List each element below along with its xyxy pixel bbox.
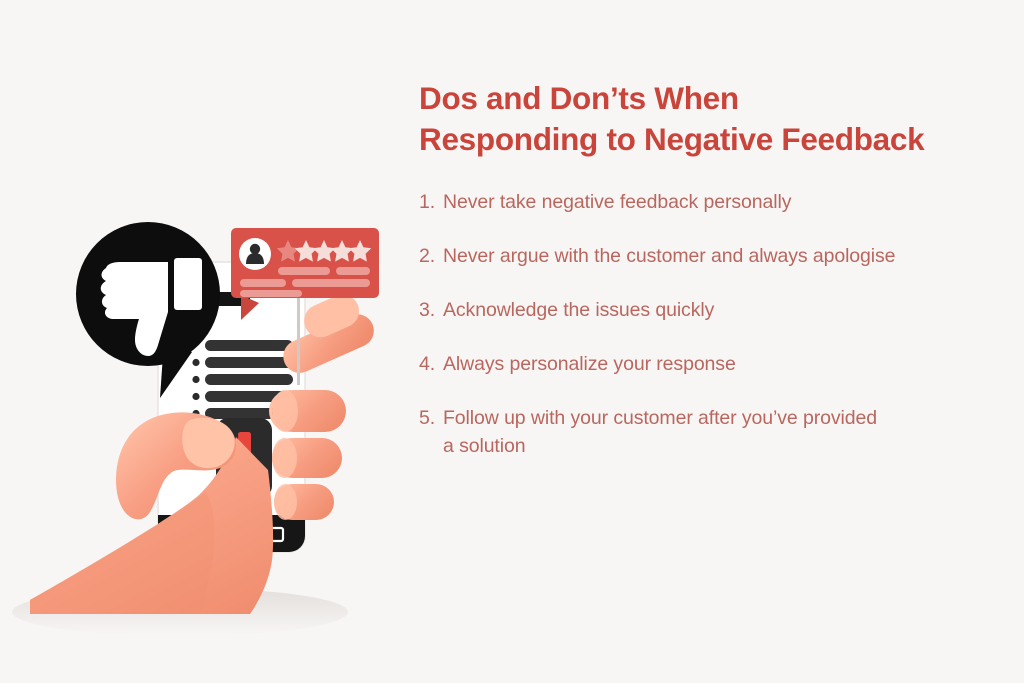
finger-2: [269, 390, 346, 432]
list-item-label: Never take negative feedback personally: [443, 188, 999, 216]
list-item: 5. Follow up with your customer after yo…: [419, 404, 999, 460]
list-item-label: Never argue with the customer and always…: [443, 242, 999, 270]
list-item-label: Acknowledge the issues quickly: [443, 296, 999, 324]
tips-list: 1. Never take negative feedback personal…: [419, 188, 999, 460]
text-panel: Dos and Don’ts When Responding to Negati…: [419, 78, 999, 460]
finger-4: [274, 484, 334, 520]
list-item-label: Always personalize your response: [443, 350, 999, 378]
list-item-number: 5.: [419, 404, 443, 432]
avatar: [239, 238, 271, 270]
list-item-number: 4.: [419, 350, 443, 378]
list-item: 3. Acknowledge the issues quickly: [419, 296, 999, 324]
poster-canvas: Dos and Don’ts When Responding to Negati…: [0, 0, 1024, 683]
list-item: 1. Never take negative feedback personal…: [419, 188, 999, 216]
list-item-number: 3.: [419, 296, 443, 324]
list-item-number: 1.: [419, 188, 443, 216]
illustration-hand-holding-phone: [0, 0, 420, 683]
list-item-label: Follow up with your customer after you’v…: [443, 404, 999, 460]
list-item: 4. Always personalize your response: [419, 350, 999, 378]
page-title: Dos and Don’ts When Responding to Negati…: [419, 78, 999, 160]
list-item: 2. Never argue with the customer and alw…: [419, 242, 999, 270]
list-item-number: 2.: [419, 242, 443, 270]
finger-3: [272, 438, 342, 478]
